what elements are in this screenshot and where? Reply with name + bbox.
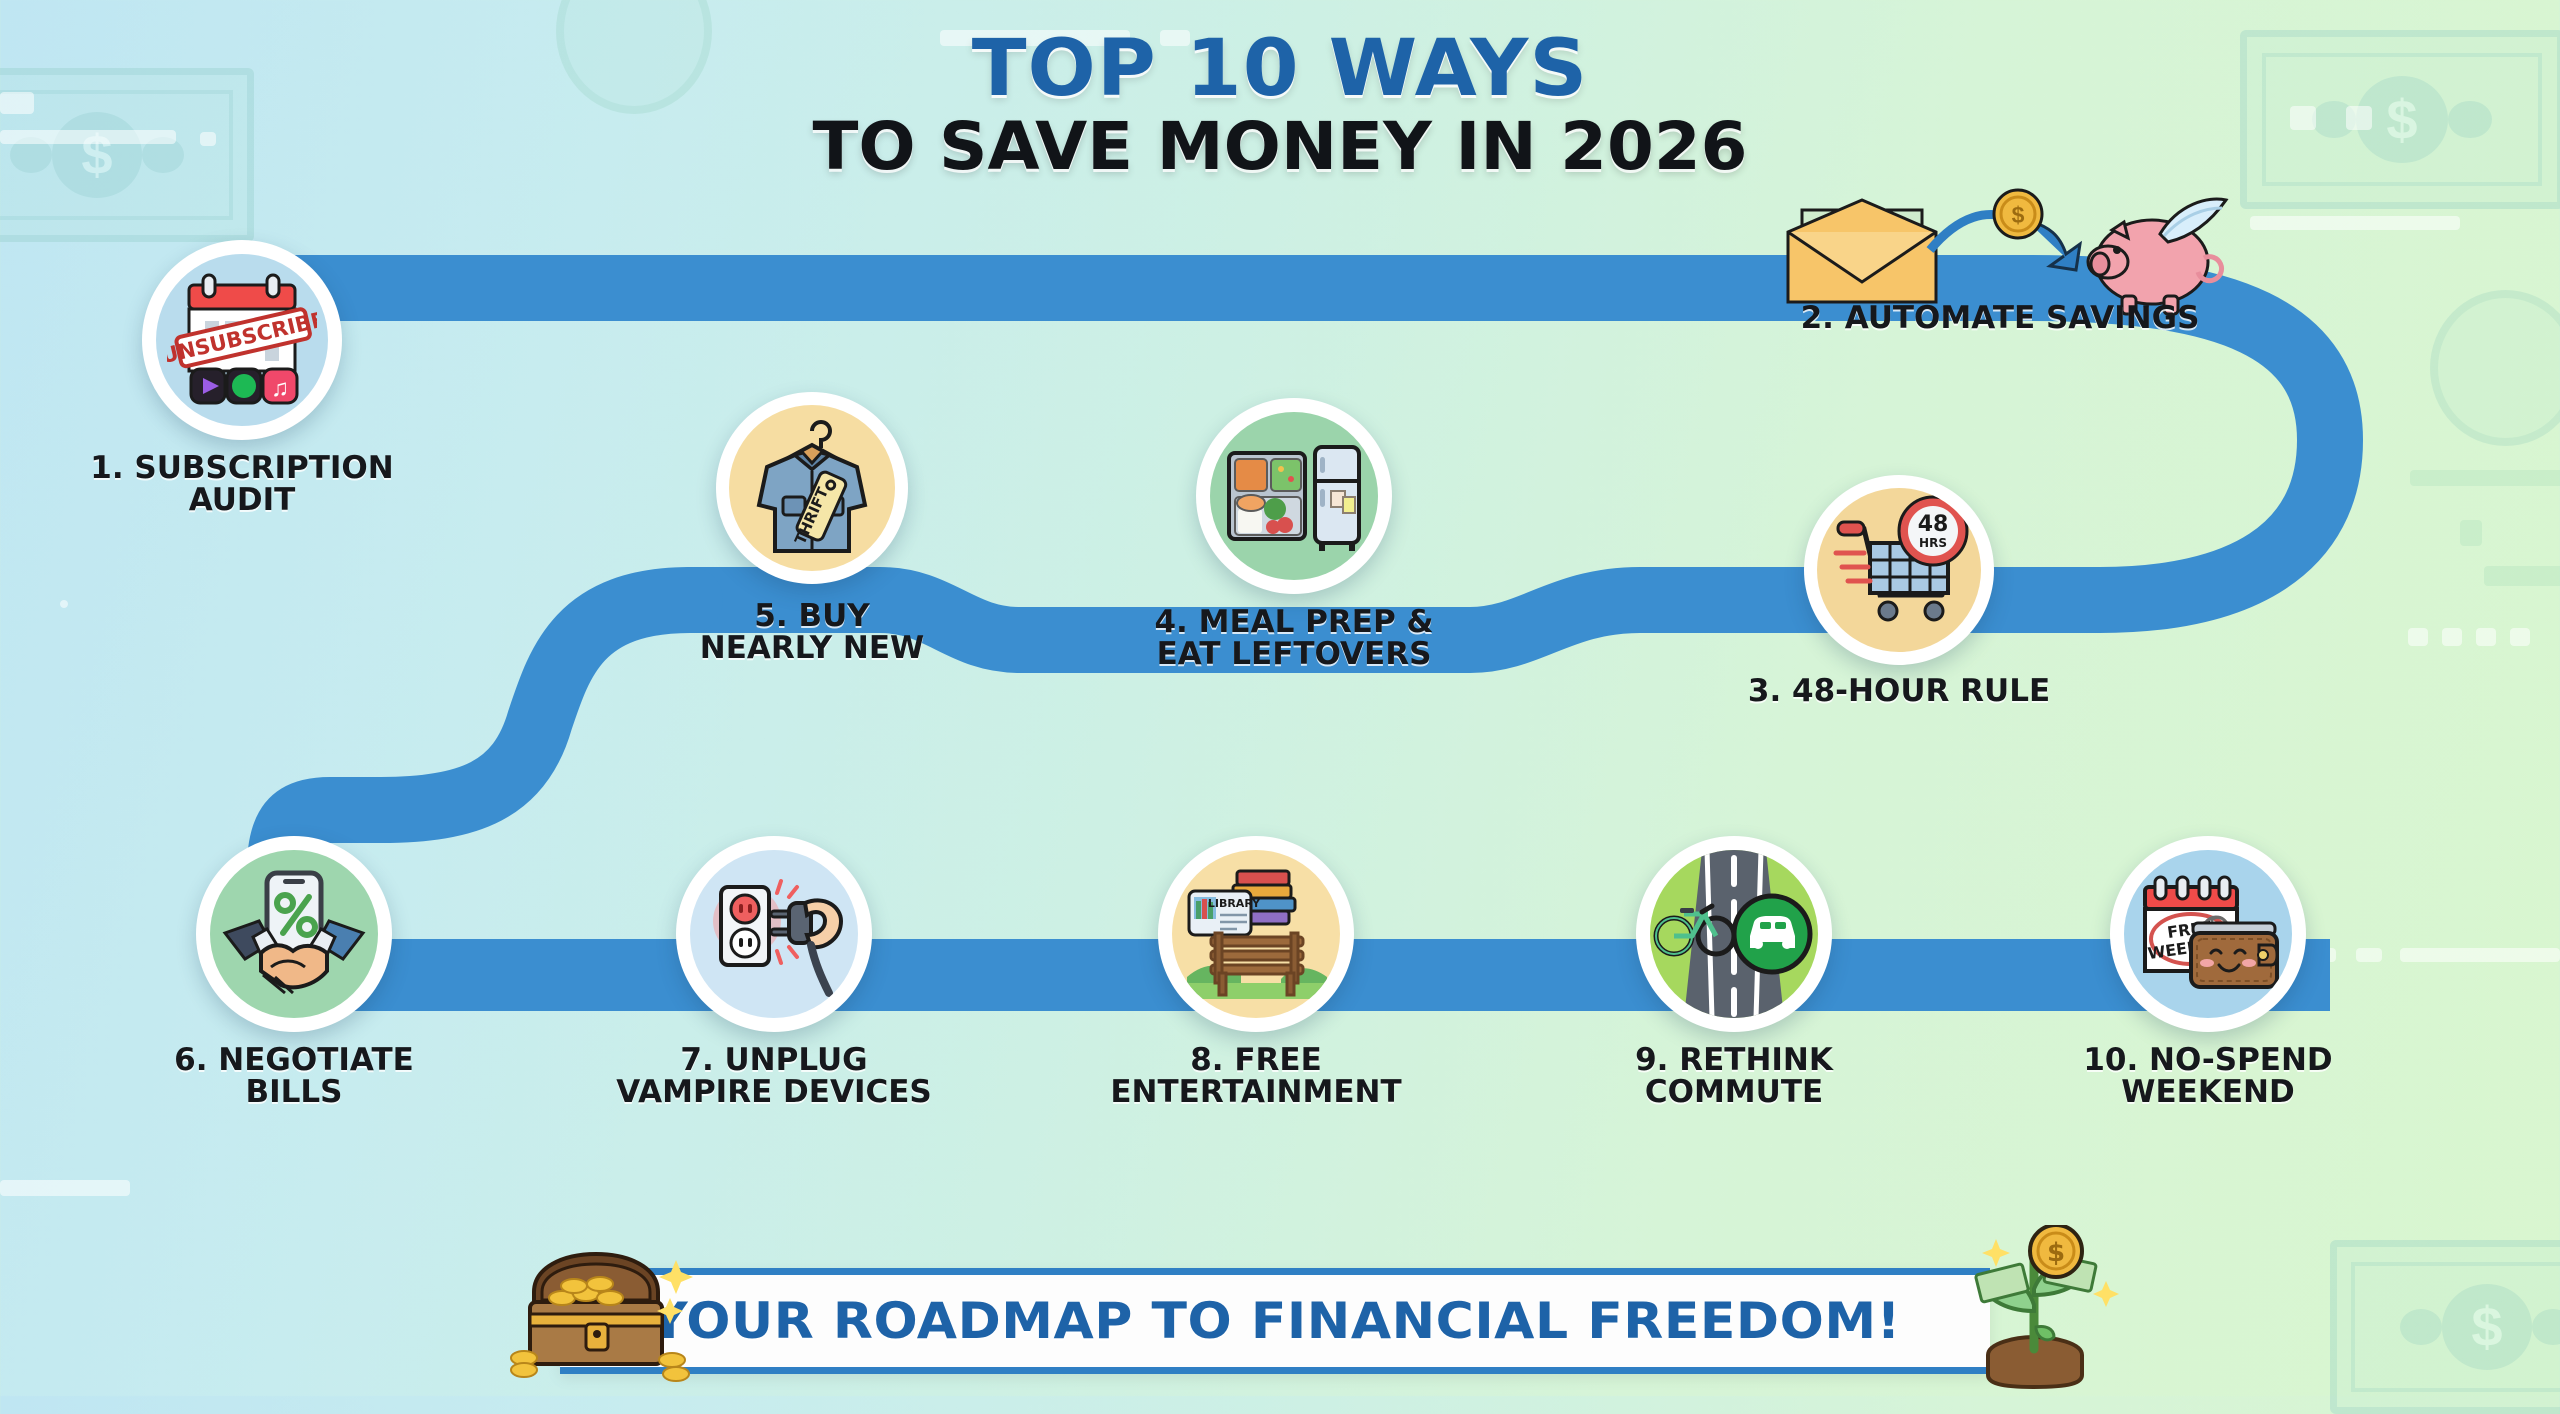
step-4-caption-line2: EAT LEFTOVERS — [1044, 638, 1544, 670]
svg-text:LIBRARY: LIBRARY — [1208, 897, 1261, 910]
step-8-caption-line2: ENTERTAINMENT — [996, 1076, 1516, 1108]
paycheck-envelope-piggy-bank-icon: PAYCHECK $ $ — [1760, 170, 2240, 320]
step-7-circle[interactable] — [676, 836, 872, 1032]
step-7-disc — [690, 850, 858, 1018]
step-6-disc — [210, 850, 378, 1018]
step-node-8[interactable]: LIBRARY 8. FREE — [1158, 836, 1354, 1032]
handshake-phone-percent-icon — [219, 859, 369, 1009]
step-node-3[interactable]: 48 HRS 3. 48-HOUR RULE — [1804, 475, 1994, 665]
footer-banner-text: YOUR ROADMAP TO FINANCIAL FREEDOM! — [650, 1292, 1901, 1350]
shopping-cart-clock-icon: 48 HRS — [1824, 495, 1974, 645]
step-8-circle[interactable]: LIBRARY — [1158, 836, 1354, 1032]
infographic-canvas: $ $ $ TOP 10 WAYS TO SAVE MONEY IN 2026 — [0, 0, 2560, 1396]
svg-text:$: $ — [2012, 202, 2025, 228]
step-node-9[interactable]: 9. RETHINK COMMUTE — [1636, 836, 1832, 1032]
step-8-caption: 8. FREE ENTERTAINMENT — [996, 1044, 1516, 1108]
step-6-caption: 6. NEGOTIATE BILLS — [64, 1044, 524, 1108]
step-node-2[interactable]: PAYCHECK $ $ 2. AUTOMATE SAVINGS — [1760, 170, 2240, 325]
step-1-caption: 1. SUBSCRIPTION AUDIT — [22, 452, 462, 516]
step-3-circle[interactable]: 48 HRS — [1804, 475, 1994, 665]
step-9-caption-line1: 9. RETHINK — [1635, 1042, 1833, 1078]
step-5-circle[interactable]: THRIFT — [716, 392, 908, 584]
step-7-caption-line2: VAMPIRE DEVICES — [514, 1076, 1034, 1108]
step-9-caption-line2: COMMUTE — [1504, 1076, 1964, 1108]
treasure-chest-icon — [500, 1240, 720, 1390]
step-8-disc: LIBRARY — [1172, 850, 1340, 1018]
step-3-caption-line1: 3. 48-HOUR RULE — [1748, 673, 2050, 709]
step-10-caption: 10. NO-SPEND WEEKEND — [1968, 1044, 2448, 1108]
step-node-5[interactable]: THRIFT 5. BUY NEARLY NEW — [716, 392, 908, 584]
step-4-caption-line1: 4. MEAL PREP & — [1154, 604, 1433, 640]
step-4-disc — [1210, 412, 1378, 580]
step-1-caption-line1: 1. SUBSCRIPTION — [90, 450, 393, 486]
calendar-free-weekend-wallet-icon: FREE WEEKEND — [2133, 859, 2283, 1009]
step-5-disc: THRIFT — [729, 405, 895, 571]
step-3-disc: 48 HRS — [1817, 488, 1981, 652]
svg-text:♫: ♫ — [271, 375, 289, 402]
step-node-1[interactable]: UNSUBSCRIBE ♫ 1. SUBSCRIPTION AUDIT — [142, 240, 342, 440]
step-3-caption: 3. 48-HOUR RULE — [1639, 675, 2159, 707]
step-7-caption: 7. UNPLUG VAMPIRE DEVICES — [514, 1044, 1034, 1108]
hand-unplug-outlet-icon — [699, 859, 849, 1009]
money-plant-icon: $ — [1930, 1225, 2130, 1390]
svg-text:48: 48 — [1918, 512, 1949, 537]
denim-jacket-hanger-icon: THRIFT — [737, 413, 887, 563]
step-9-disc — [1650, 850, 1818, 1018]
step-6-caption-line2: BILLS — [64, 1076, 524, 1108]
step-10-caption-line2: WEEKEND — [1968, 1076, 2448, 1108]
step-9-circle[interactable] — [1636, 836, 1832, 1032]
road-bicycle-car-icon — [1650, 850, 1818, 1018]
svg-text:$: $ — [2047, 1238, 2065, 1268]
bento-box-fridge-icon — [1219, 421, 1369, 571]
step-2-caption: 2. AUTOMATE SAVINGS — [1720, 302, 2280, 334]
page-title: TOP 10 WAYS TO SAVE MONEY IN 2026 — [0, 30, 2560, 180]
step-5-caption: 5. BUY NEARLY NEW — [572, 600, 1052, 664]
step-1-disc: UNSUBSCRIBE ♫ — [156, 254, 328, 426]
step-6-circle[interactable] — [196, 836, 392, 1032]
step-5-caption-line1: 5. BUY — [754, 598, 869, 634]
title-line-1: TOP 10 WAYS — [0, 30, 2560, 108]
step-5-caption-line2: NEARLY NEW — [572, 632, 1052, 664]
step-10-caption-line1: 10. NO-SPEND — [2083, 1042, 2332, 1078]
step-node-4[interactable]: 4. MEAL PREP & EAT LEFTOVERS — [1196, 398, 1392, 594]
svg-text:HRS: HRS — [1919, 536, 1947, 550]
step-4-caption: 4. MEAL PREP & EAT LEFTOVERS — [1044, 606, 1544, 670]
step-10-disc: FREE WEEKEND — [2124, 850, 2292, 1018]
step-7-caption-line1: 7. UNPLUG — [680, 1042, 867, 1078]
step-10-circle[interactable]: FREE WEEKEND — [2110, 836, 2306, 1032]
footer-banner: YOUR ROADMAP TO FINANCIAL FREEDOM! — [560, 1268, 1990, 1374]
library-card-books-bench-icon: LIBRARY — [1181, 859, 1331, 1009]
step-8-caption-line1: 8. FREE — [1190, 1042, 1322, 1078]
step-2-caption-line1: 2. AUTOMATE SAVINGS — [1801, 300, 2200, 336]
step-1-caption-line2: AUDIT — [22, 484, 462, 516]
calendar-unsubscribe-icon: UNSUBSCRIBE ♫ — [167, 265, 317, 415]
step-node-10[interactable]: FREE WEEKEND — [2110, 836, 2306, 1032]
step-1-circle[interactable]: UNSUBSCRIBE ♫ — [142, 240, 342, 440]
step-4-circle[interactable] — [1196, 398, 1392, 594]
step-node-6[interactable]: 6. NEGOTIATE BILLS — [196, 836, 392, 1032]
step-6-caption-line1: 6. NEGOTIATE — [174, 1042, 414, 1078]
step-node-7[interactable]: 7. UNPLUG VAMPIRE DEVICES — [676, 836, 872, 1032]
step-9-caption: 9. RETHINK COMMUTE — [1504, 1044, 1964, 1108]
